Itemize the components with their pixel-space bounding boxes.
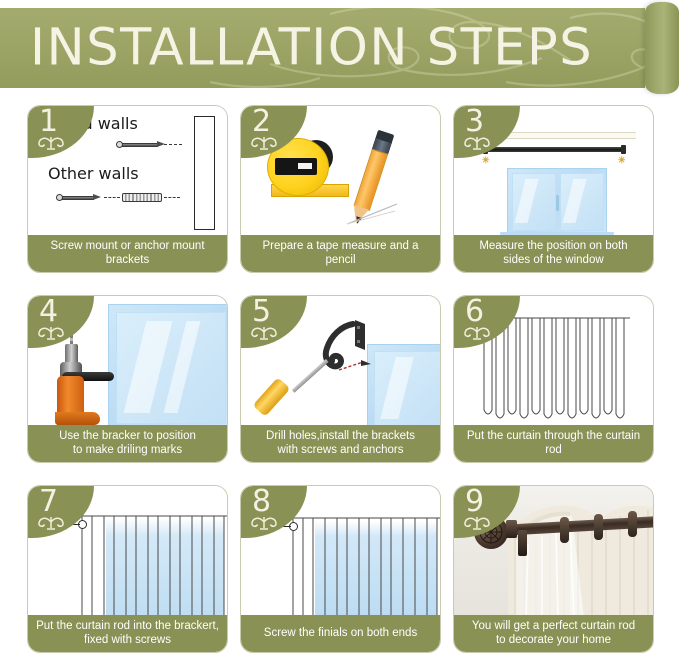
caption-line: Put the curtain rod into the brackert, bbox=[36, 620, 219, 634]
caption-line: to make driling marks bbox=[59, 444, 196, 458]
step-caption-8: Screw the finials on both ends bbox=[241, 615, 440, 652]
step-9-illustration: 9 bbox=[454, 486, 653, 617]
caption-line: to decorate your home bbox=[472, 634, 635, 648]
step-caption-4: Use the bracker to position to make dril… bbox=[28, 425, 227, 462]
step-card-4[interactable]: 4 Use the bracker to position to make dr… bbox=[27, 295, 228, 463]
flourish-icon bbox=[462, 514, 492, 532]
flourish-icon bbox=[462, 134, 492, 152]
step-caption-2: Prepare a tape measure and a pencil bbox=[241, 235, 440, 272]
curtain-rod bbox=[485, 147, 625, 152]
caption-line: You will get a perfect curtain rod bbox=[472, 620, 635, 634]
step-caption-5: Drill holes,install the brackets with sc… bbox=[241, 425, 440, 462]
step-caption-1: Screw mount or anchor mount brackets bbox=[28, 235, 227, 272]
window-graphic bbox=[367, 344, 440, 427]
banner-body: INSTALLATION STEPS bbox=[0, 8, 645, 88]
curtain-on-bracket-graphic bbox=[80, 514, 227, 617]
caption-line: with screws and anchors bbox=[266, 444, 415, 458]
page-title: INSTALLATION STEPS bbox=[30, 19, 593, 78]
step-caption-9: You will get a perfect curtain rod to de… bbox=[454, 615, 653, 652]
step-card-8[interactable]: 8 Screw the finials on both ends bbox=[240, 485, 441, 653]
step-1-label-other: Other walls bbox=[48, 164, 139, 183]
caption-line: Prepare a tape measure and a pencil bbox=[247, 240, 434, 267]
curtain-grommet bbox=[628, 511, 637, 537]
step-card-7[interactable]: 7 Put the curtain rod into the brackert,… bbox=[27, 485, 228, 653]
caption-line: Screw mount or anchor mount brackets bbox=[34, 240, 221, 267]
drill-chuck bbox=[65, 344, 78, 364]
step-caption-3: Measure the position on both sides of th… bbox=[454, 235, 653, 272]
curtain-with-finials-graphic bbox=[291, 516, 440, 617]
step-card-1[interactable]: Wood walls Other walls 1 bbox=[27, 105, 228, 273]
step-5-illustration: 5 bbox=[241, 296, 440, 427]
step-card-5[interactable]: 5 Drill holes,install the brackets with … bbox=[240, 295, 441, 463]
rod-end-right bbox=[621, 145, 626, 154]
step-2-illustration: 2 bbox=[241, 106, 440, 237]
drill-base bbox=[55, 412, 100, 425]
caption-line: Use the bracker to position bbox=[59, 430, 196, 444]
rod-collar bbox=[506, 520, 517, 538]
flourish-icon bbox=[249, 324, 279, 342]
step-caption-7: Put the curtain rod into the brackert, f… bbox=[28, 615, 227, 652]
window-graphic bbox=[507, 168, 607, 234]
window-graphic bbox=[108, 304, 227, 427]
step-8-illustration: 8 bbox=[241, 486, 440, 617]
header-banner: INSTALLATION STEPS bbox=[0, 8, 679, 88]
caption-line: Put the curtain through the curtain rod bbox=[460, 430, 647, 457]
caption-line: Measure the position on both bbox=[479, 240, 627, 254]
step-card-6[interactable]: 6 Put the curtain through the curtain ro… bbox=[453, 295, 654, 463]
bracket-mount bbox=[518, 530, 527, 556]
pencil-mark-left: ✳ bbox=[482, 155, 490, 166]
caption-line: sides of the window bbox=[479, 254, 627, 268]
steps-grid: Wood walls Other walls 1 bbox=[27, 105, 654, 653]
tape-measure-window bbox=[275, 158, 317, 175]
step-badge-1: 1 bbox=[28, 106, 94, 158]
step-1-illustration: Wood walls Other walls 1 bbox=[28, 106, 227, 237]
flourish-icon bbox=[36, 324, 66, 342]
anchor-dash-right bbox=[164, 197, 180, 198]
screwdriver-handle bbox=[252, 377, 290, 417]
step-4-illustration: 4 bbox=[28, 296, 227, 427]
step-card-9[interactable]: 9 You will get a perfect curtain rod to … bbox=[453, 485, 654, 653]
flourish-icon bbox=[36, 134, 66, 152]
curtain-grommet bbox=[594, 514, 603, 540]
step-6-illustration: 6 bbox=[454, 296, 653, 427]
anchor-dash-left bbox=[104, 197, 120, 198]
wood-screw-dash bbox=[164, 144, 182, 145]
curtain-outline-graphic bbox=[482, 314, 632, 424]
step-7-illustration: 7 bbox=[28, 486, 227, 617]
screwdriver-shaft bbox=[292, 359, 329, 392]
caption-line: Screw the finials on both ends bbox=[264, 627, 417, 641]
wall-surface bbox=[194, 116, 215, 230]
anchor-screw-icon bbox=[56, 194, 108, 201]
flourish-icon bbox=[36, 514, 66, 532]
pencil-mark-right: ✳ bbox=[618, 155, 626, 166]
wood-screw-icon bbox=[116, 141, 168, 148]
flourish-icon bbox=[249, 514, 279, 532]
bracket-screw-arrow bbox=[337, 358, 377, 378]
step-3-illustration: ✳ ✳ 3 bbox=[454, 106, 653, 237]
wall-anchor-icon bbox=[122, 193, 162, 202]
caption-line: Drill holes,install the brackets bbox=[266, 430, 415, 444]
flourish-icon bbox=[462, 324, 492, 342]
caption-line: fixed with screws bbox=[36, 634, 219, 648]
step-card-3[interactable]: ✳ ✳ 3 Measure bbox=[453, 105, 654, 273]
step-badge-5: 5 bbox=[241, 296, 307, 348]
banner-scroll-end bbox=[645, 2, 679, 94]
flourish-icon bbox=[249, 134, 279, 152]
step-card-2[interactable]: 2 Prepare a tape measure and a pencil bbox=[240, 105, 441, 273]
pencil-shadow bbox=[345, 202, 401, 228]
curtain-grommet bbox=[560, 517, 569, 543]
step-caption-6: Put the curtain through the curtain rod bbox=[454, 425, 653, 462]
